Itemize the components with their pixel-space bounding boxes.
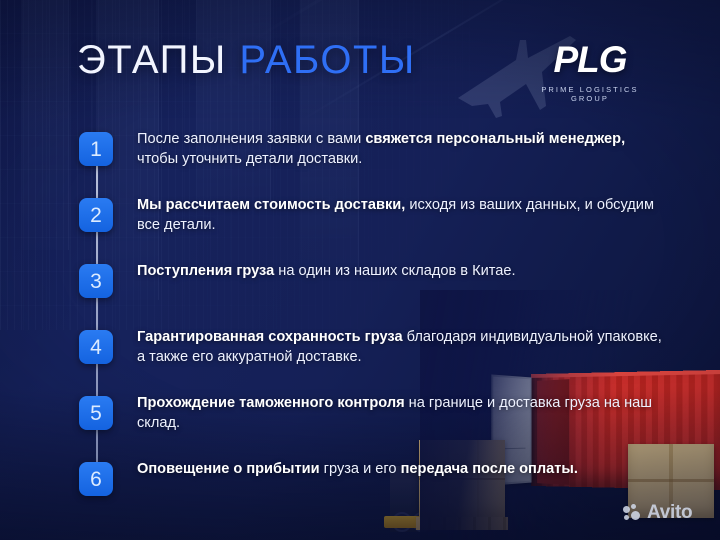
step-number-badge: 5 <box>79 396 113 430</box>
step-text-emphasis: передача после оплаты. <box>401 461 578 477</box>
step-description: Прохождение таможенного контроля на гран… <box>137 393 667 433</box>
step-text-plain: груза и его <box>320 461 401 477</box>
logo-tagline: PRIME LOGISTICS GROUP <box>523 85 657 103</box>
steps-list: 1После заполнения заявки с вами свяжется… <box>0 118 720 518</box>
step-description: Мы рассчитаем стоимость доставки, исходя… <box>137 195 667 235</box>
step-text-emphasis: Гарантированная сохранность груза <box>137 329 403 345</box>
logo-wordmark: PLG <box>523 41 657 78</box>
promo-slide: ЭТАПЫ РАБОТЫ PLG PRIME LOGISTICS GROUP 1… <box>0 0 720 540</box>
page-title: ЭТАПЫ РАБОТЫ <box>77 38 416 83</box>
step-text-emphasis: Прохождение таможенного контроля <box>137 395 405 411</box>
step-number-badge: 1 <box>79 132 113 166</box>
avito-dots-icon <box>623 504 642 521</box>
steps-connector-rail <box>96 140 98 495</box>
step-description: Поступления груза на один из наших склад… <box>137 261 667 281</box>
step-number-badge: 3 <box>79 264 113 298</box>
step-text-emphasis: Оповещение о прибытии <box>137 461 320 477</box>
step-number-badge: 4 <box>79 330 113 364</box>
avito-label: Avito <box>647 503 692 522</box>
step-number-badge: 2 <box>79 198 113 232</box>
step-number-badge: 6 <box>79 462 113 496</box>
step-description: Гарантированная сохранность груза благод… <box>137 327 667 367</box>
step-text-emphasis: Мы рассчитаем стоимость доставки, <box>137 197 405 213</box>
step-text-plain: После заполнения заявки с вами <box>137 131 365 147</box>
brand-logo: PLG PRIME LOGISTICS GROUP <box>523 41 657 103</box>
slide-header: ЭТАПЫ РАБОТЫ PLG PRIME LOGISTICS GROUP <box>0 0 720 118</box>
step-text-emphasis: Поступления груза <box>137 263 274 279</box>
step-text-emphasis: свяжется персональный менеджер, <box>365 131 625 147</box>
step-text-plain: на один из наших складов в Китае. <box>274 263 515 279</box>
step-description: После заполнения заявки с вами свяжется … <box>137 129 667 169</box>
step-text-plain: чтобы уточнить детали доставки. <box>137 151 362 167</box>
avito-watermark: Avito <box>623 503 692 522</box>
title-word-primary: ЭТАПЫ <box>77 38 227 82</box>
step-description: Оповещение о прибытии груза и его переда… <box>137 459 667 479</box>
title-word-accent: РАБОТЫ <box>239 38 415 82</box>
